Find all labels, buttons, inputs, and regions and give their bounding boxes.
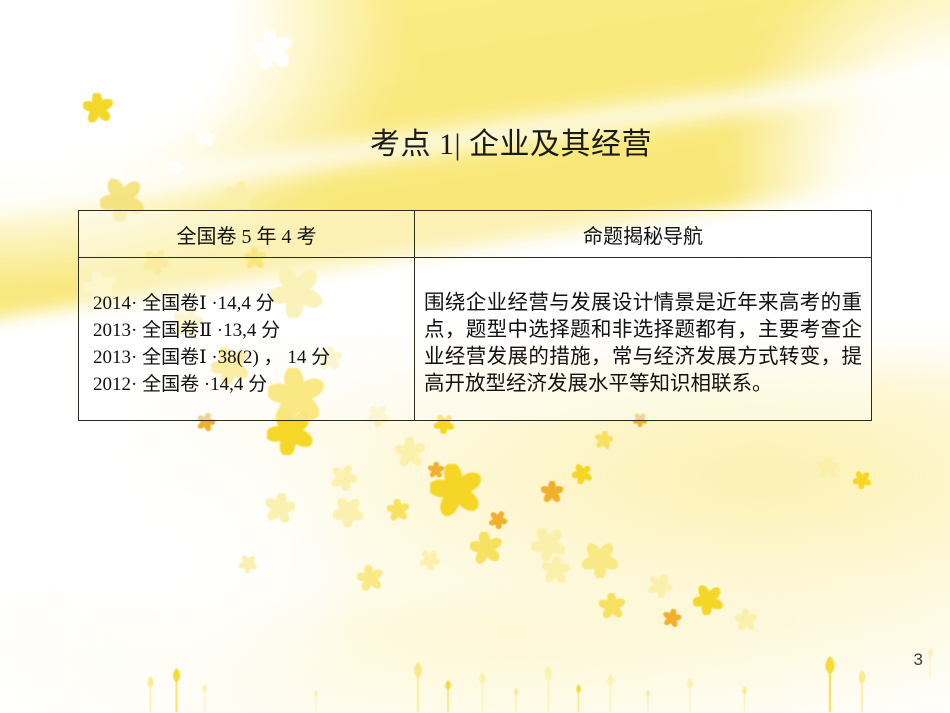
exam-list-item: 2014· 全国卷Ⅰ ·14,4 分 (93, 291, 414, 318)
table-header-left: 全国卷 5 年 4 考 (79, 211, 415, 258)
flower-icon (333, 497, 363, 527)
flower-icon (395, 437, 425, 467)
stem-flower-icon (198, 684, 211, 712)
slide-canvas: 考点 1| 企业及其经营 全国卷 5 年 4 考 命题揭秘导航 2014· 全国… (0, 0, 950, 713)
flower-icon (387, 499, 409, 521)
table-cell-exam-list: 2014· 全国卷Ⅰ ·14,4 分2013· 全国卷Ⅱ ·13,4 分2013… (79, 258, 415, 421)
bottom-yellow-wash (0, 600, 950, 713)
bottom-left-white-fade (0, 420, 340, 713)
stem-flower-icon (441, 680, 455, 712)
exam-list-item: 2013· 全国卷Ⅰ ·38(2) ， 14 分 (93, 345, 414, 372)
stem-flower-icon (168, 668, 185, 712)
flower-icon (663, 609, 681, 627)
stem-flower-icon (409, 662, 427, 712)
flower-icon (735, 609, 757, 631)
flower-icon (252, 30, 292, 70)
flower-icon (470, 532, 502, 564)
stem-flower-icon (683, 678, 697, 712)
stem-flower-icon (540, 666, 557, 712)
flower-icon (428, 462, 444, 478)
flower-icon (430, 464, 482, 516)
flower-icon (853, 471, 871, 489)
flower-icon (542, 556, 570, 584)
flower-icon (169, 161, 183, 175)
flower-icon (357, 565, 383, 591)
flower-icon (331, 465, 357, 491)
stem-flower-icon (475, 672, 490, 712)
flower-icon (541, 481, 563, 503)
page-title: 考点 1| 企业及其经营 (370, 119, 652, 163)
flower-icon (582, 542, 618, 578)
flower-icon (420, 550, 440, 570)
exam-list-item: 2012· 全国卷 ·14,4 分 (93, 372, 414, 399)
table-body-row: 2014· 全国卷Ⅰ ·14,4 分2013· 全国卷Ⅱ ·13,4 分2013… (79, 258, 872, 421)
exam-list: 2014· 全国卷Ⅰ ·14,4 分2013· 全国卷Ⅱ ·13,4 分2013… (79, 279, 414, 399)
exam-summary-table: 全国卷 5 年 4 考 命题揭秘导航 2014· 全国卷Ⅰ ·14,4 分201… (78, 210, 872, 421)
flower-icon (595, 431, 613, 449)
flower-icon (817, 457, 839, 479)
stem-flower-icon (510, 688, 522, 712)
table-header-row: 全国卷 5 年 4 考 命题揭秘导航 (79, 211, 872, 258)
exam-list-item: 2013· 全国卷Ⅱ ·13,4 分 (93, 318, 414, 345)
flower-icon (183, 75, 209, 101)
flower-icon (693, 585, 723, 615)
flower-icon (225, 181, 255, 211)
page-title-main: 企业及其经营 (469, 128, 652, 161)
flower-icon (83, 93, 113, 123)
stem-flower-icon (738, 686, 751, 712)
page-number: 3 (914, 650, 923, 670)
stem-flower-icon (820, 656, 840, 712)
stem-flower-icon (642, 690, 654, 712)
guidance-paragraph: 围绕企业经营与发展设计情景是近年来高考的重点，题型中选择题和非选择题都有，主要考… (415, 280, 871, 399)
flower-icon (599, 593, 625, 619)
stem-flower-icon (924, 648, 937, 678)
flower-icon (265, 493, 295, 523)
flower-icon (239, 555, 257, 573)
flower-icon (489, 511, 507, 529)
stem-flower-icon (143, 676, 158, 712)
page-title-prefix: 考点 1| (370, 128, 461, 161)
stem-flower-icon (572, 684, 585, 712)
flower-icon (572, 464, 592, 484)
flower-icon (531, 527, 565, 561)
flower-icon (648, 574, 672, 598)
flower-icon (197, 129, 215, 147)
table-cell-guidance: 围绕企业经营与发展设计情景是近年来高考的重点，题型中选择题和非选择题都有，主要考… (415, 258, 872, 421)
table-header-right: 命题揭秘导航 (415, 211, 872, 258)
stem-flower-icon (310, 690, 322, 712)
stem-flower-icon (603, 674, 618, 712)
stem-flower-icon (854, 670, 870, 712)
